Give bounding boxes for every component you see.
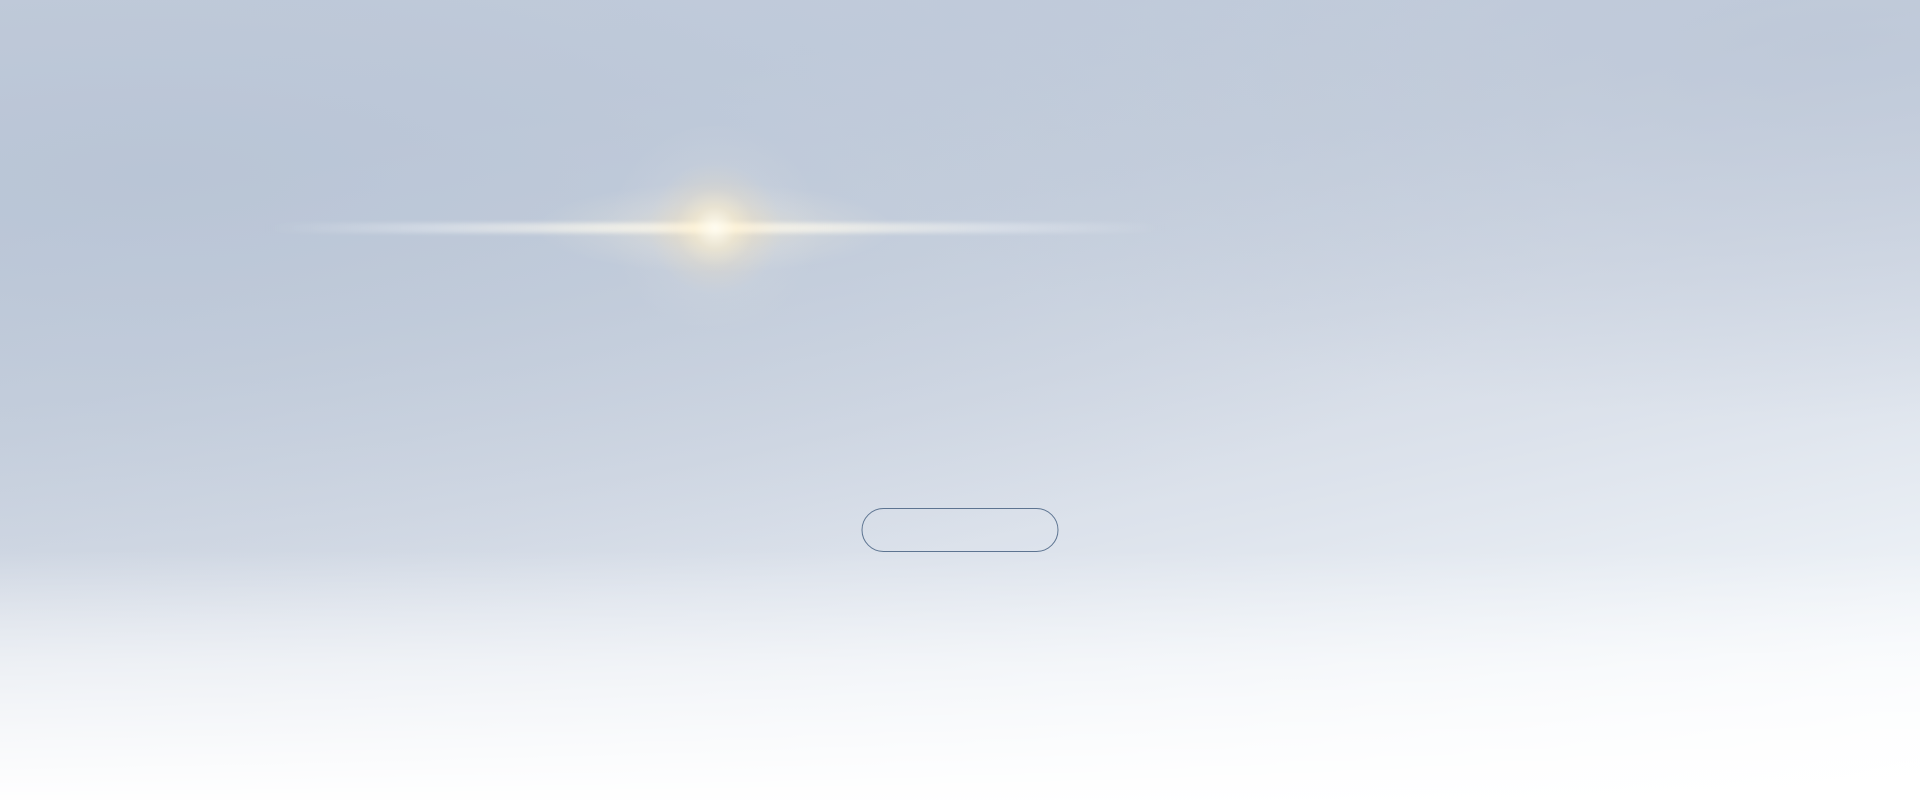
- flowing-line-waves: [0, 0, 1920, 800]
- hero-banner: [0, 0, 1920, 800]
- learn-more-button[interactable]: [862, 508, 1059, 552]
